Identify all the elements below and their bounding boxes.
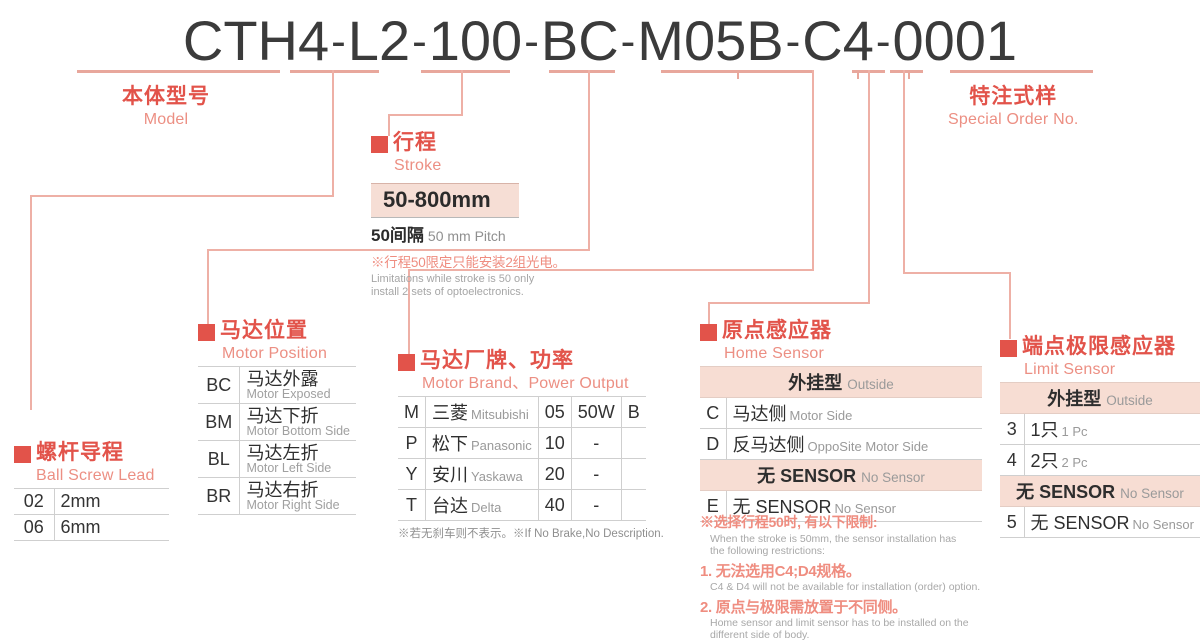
ball-screw-lead-code: 06 [14,515,54,541]
section-limit-sensor-label-en: Limit Sensor [1024,360,1200,379]
motor-brake-code: B [621,397,646,428]
restriction-item-2-en-line2: different side of body. [710,629,1000,641]
section-limit-sensor-header: 端点极限感应器 [1000,334,1200,360]
motor-power-code: 40 [538,490,571,521]
motor-position-value-en: Motor Bottom Side [246,425,350,438]
table-row: BR 马达右折 Motor Right Side [198,478,356,515]
code-underline-4 [549,70,615,73]
limit-sensor-value-cn: 2只 [1031,451,1059,471]
motor-position-code: BR [198,478,240,515]
motor-position-value-en: Motor Left Side [246,462,350,475]
motor-brand-name-cn: 三菱 [432,403,468,423]
limit-sensor-group-header-cell: 外挂型Outside [1000,383,1200,414]
connector-line-motorpos-down1 [588,70,590,250]
limit-sensor-value-en: 1 Pc [1059,424,1088,439]
table-row: BM 马达下折 Motor Bottom Side [198,404,356,441]
connector-line-limitsensor-horizontal [903,272,1011,274]
stroke-note-en-line2: install 2 sets of optoelectronics. [371,286,566,299]
restriction-item-2-cn: 2. 原点与极限需放置于不同侧。 [700,596,1000,617]
limit-sensor-group2-cn: 无 SENSOR [1016,482,1115,502]
motor-position-value: 马达右折 Motor Right Side [240,478,356,515]
limit-sensor-value: 2只2 Pc [1024,445,1200,476]
motor-power-code: 20 [538,459,571,490]
stroke-pitch: 50间隔50 mm Pitch [371,221,566,246]
section-special-order-label-cn: 特注式样 [948,84,1079,110]
home-sensor-table: 外挂型Outside C 马达侧Motor Side D 反马达侧OppoSit… [700,366,982,522]
motor-brand-code: Y [398,459,426,490]
table-row: BC 马达外露 Motor Exposed [198,367,356,404]
section-stroke-label-cn: 行程 [393,130,441,156]
motor-position-code: BM [198,404,240,441]
stroke-note-cn: ※行程50限定只能安装2组光电。 [371,251,566,271]
home-sensor-group-header-cell: 外挂型Outside [700,367,982,398]
section-ball-screw-lead-header: 螺杆导程 [14,440,169,466]
ball-screw-lead-value: 6mm [54,515,169,541]
limit-sensor-code: 5 [1000,507,1024,538]
limit-sensor-group-header-outside: 外挂型Outside [1000,383,1200,414]
home-sensor-group1-en: Outside [842,377,894,392]
section-home-sensor-label-cn: 原点感应器 [722,318,832,344]
motor-position-value: 马达外露 Motor Exposed [240,367,356,404]
table-row: 4 2只2 Pc [1000,445,1200,476]
table-row: 3 1只1 Pc [1000,414,1200,445]
section-home-sensor: 原点感应器 Home Sensor 外挂型Outside C 马达侧Motor … [700,318,982,522]
section-special-order: 特注式样 Special Order No. [948,84,1079,129]
motor-brand-table: M 三菱Mitsubishi 05 50W B P 松下Panasonic 10… [398,396,646,521]
motor-power-value: 50W [571,397,621,428]
section-stroke-label-en: Stroke [394,156,441,175]
motor-position-value-en: Motor Exposed [246,388,350,401]
motor-power-value: - [571,459,621,490]
restriction-title-en: When the stroke is 50mm, the sensor inst… [710,533,1000,557]
section-home-sensor-header: 原点感应器 [700,318,982,344]
home-sensor-restrictions: ※选择行程50时, 有以下限制: When the stroke is 50mm… [700,512,1000,641]
limit-sensor-value-cn: 无 SENSOR [1031,513,1130,533]
code-segment-2: L2 [348,9,410,72]
ball-screw-lead-code: 02 [14,489,54,515]
code-segment-4: BC [541,9,619,72]
motor-brand-name-cn: 安川 [432,465,468,485]
code-segment-1: CTH4 [183,9,329,72]
motor-brand-name: 三菱Mitsubishi [426,397,539,428]
code-separator-2: - [410,17,429,66]
motor-brand-name: 安川Yaskawa [426,459,539,490]
motor-position-value-cn: 马达下折 [246,406,350,426]
code-segment-6: C4 [802,9,874,72]
home-sensor-value-en: OppoSite Motor Side [805,439,929,454]
section-model: 本体型号 Model [122,84,210,129]
ball-screw-lead-table: 02 2mm 06 6mm [14,488,169,541]
home-sensor-group-header-outside: 外挂型Outside [700,367,982,398]
code-underline-2 [290,70,379,73]
motor-brand-name-en: Delta [468,500,501,515]
stroke-range-value: 50-800mm [371,183,519,218]
motor-brand-name-cn: 台达 [432,496,468,516]
limit-sensor-table: 外挂型Outside 3 1只1 Pc 4 2只2 Pc 无 SENSORNo … [1000,382,1200,538]
section-model-label-en: Model [122,110,210,129]
motor-brand-name: 松下Panasonic [426,428,539,459]
home-sensor-group2-cn: 无 SENSOR [757,466,856,486]
restriction-item-2-en-line1: Home sensor and limit sensor has to be i… [710,617,1000,629]
home-sensor-value-en: Motor Side [787,408,853,423]
motor-brand-code: T [398,490,426,521]
limit-sensor-group-header-cell: 无 SENSORNo Sensor [1000,476,1200,507]
connector-line-motorpos-down2 [207,249,209,327]
section-motor-position: 马达位置 Motor Position BC 马达外露 Motor Expose… [198,318,356,515]
home-sensor-group1-cn: 外挂型 [788,373,842,393]
motor-power-value: - [571,428,621,459]
section-limit-sensor: 端点极限感应器 Limit Sensor 外挂型Outside 3 1只1 Pc… [1000,334,1200,538]
stroke-pitch-cn: 50间隔 [371,226,424,245]
home-sensor-group-header-cell: 无 SENSORNo Sensor [700,460,982,491]
motor-brake-code [621,428,646,459]
section-motor-brand-header: 马达厂牌、功率 [398,348,664,374]
motor-position-code: BC [198,367,240,404]
section-limit-sensor-label-cn: 端点极限感应器 [1022,334,1176,360]
code-underline-tick-5 [737,70,739,79]
section-special-order-label-en: Special Order No. [948,110,1079,129]
motor-position-value-cn: 马达左折 [246,443,350,463]
section-ball-screw-lead: 螺杆导程 Ball Screw Lead 02 2mm 06 6mm [14,440,169,541]
limit-sensor-code: 4 [1000,445,1024,476]
home-sensor-value: 反马达侧OppoSite Motor Side [726,429,982,460]
section-marker-square [398,354,415,371]
table-row: BL 马达左折 Motor Left Side [198,441,356,478]
code-separator-3: - [522,17,541,66]
home-sensor-group2-en: No Sensor [856,470,925,485]
connector-line-homesensor-horizontal [708,302,870,304]
code-separator-6: - [874,17,893,66]
motor-brake-code [621,459,646,490]
motor-power-value: - [571,490,621,521]
code-segment-5: M05B [637,9,783,72]
home-sensor-group-header-nosensor: 无 SENSORNo Sensor [700,460,982,491]
section-ball-screw-lead-label-cn: 螺杆导程 [36,440,124,466]
home-sensor-value-cn: 反马达侧 [733,435,805,455]
code-underline-1 [77,70,280,73]
connector-line-stroke-horizontal [388,114,463,116]
motor-brand-code: M [398,397,426,428]
section-motor-position-header: 马达位置 [198,318,356,344]
stroke-pitch-en: 50 mm Pitch [424,228,506,244]
limit-sensor-value: 1只1 Pc [1024,414,1200,445]
connector-line-ballscrew-vertical [30,195,32,410]
motor-position-value: 马达下折 Motor Bottom Side [240,404,356,441]
restriction-item-1-en: C4 & D4 will not be available for instal… [710,581,1000,593]
stroke-note-en-line1: Limitations while stroke is 50 only [371,273,566,286]
limit-sensor-value-en: 2 Pc [1059,455,1088,470]
motor-brand-name-en: Mitsubishi [468,407,529,422]
section-home-sensor-label-en: Home Sensor [724,344,982,363]
motor-brand-name: 台达Delta [426,490,539,521]
limit-sensor-value-en: No Sensor [1130,517,1194,532]
section-marker-square [14,446,31,463]
code-underline-3 [421,70,510,73]
connector-line-model-horizontal [30,195,334,197]
motor-brake-code [621,490,646,521]
home-sensor-value: 马达侧Motor Side [726,398,982,429]
table-row: 5 无 SENSORNo Sensor [1000,507,1200,538]
connector-line-limitsensor-down1 [903,70,905,273]
table-row: P 松下Panasonic 10 - [398,428,646,459]
limit-sensor-group2-en: No Sensor [1115,486,1184,501]
motor-brand-footnote: ※若无刹车则不表示。※If No Brake,No Description. [398,525,664,541]
ball-screw-lead-value: 2mm [54,489,169,515]
motor-position-table: BC 马达外露 Motor Exposed BM 马达下折 Motor Bott… [198,366,356,515]
connector-line-model-vertical [332,70,334,196]
code-separator-5: - [784,17,803,66]
product-code-diagram: CTH4-L2-100-BC-M05B-C4-0001 本体型号 Model 特… [0,0,1200,601]
code-underline-tick-6b [908,70,910,79]
motor-power-code: 05 [538,397,571,428]
table-row: 02 2mm [14,489,169,515]
section-motor-position-label-en: Motor Position [222,344,356,363]
code-segment-7: 0001 [893,9,1018,72]
motor-position-value-cn: 马达外露 [246,369,350,389]
section-motor-position-label-cn: 马达位置 [220,318,308,344]
motor-position-code: BL [198,441,240,478]
section-motor-brand-label-en: Motor Brand、Power Output [422,374,664,393]
code-underline-7 [950,70,1093,73]
limit-sensor-value: 无 SENSORNo Sensor [1024,507,1200,538]
section-marker-square [1000,340,1017,357]
section-marker-square [371,136,388,153]
stroke-note-en: Limitations while stroke is 50 only inst… [371,273,566,299]
table-row: Y 安川Yaskawa 20 - [398,459,646,490]
section-marker-square [700,324,717,341]
motor-position-value-cn: 马达右折 [246,480,350,500]
section-motor-brand-label-cn: 马达厂牌、功率 [420,348,574,374]
code-segment-3: 100 [429,9,522,72]
restriction-item-1-cn: 1. 无法选用C4;D4规格。 [700,560,1000,581]
connector-line-limitsensor-down2 [1009,272,1011,339]
section-marker-square [198,324,215,341]
limit-sensor-group1-en: Outside [1101,393,1153,408]
home-sensor-code: C [700,398,726,429]
restriction-item-2-en: Home sensor and limit sensor has to be i… [710,617,1000,641]
home-sensor-value-cn: 马达侧 [733,404,787,424]
table-row: T 台达Delta 40 - [398,490,646,521]
connector-line-motorbrand-down1 [812,70,814,270]
restriction-title-cn: ※选择行程50时, 有以下限制: [700,512,1000,532]
motor-power-code: 10 [538,428,571,459]
table-row: D 反马达侧OppoSite Motor Side [700,429,982,460]
code-underline-tick-6a [857,70,859,79]
table-row: 06 6mm [14,515,169,541]
motor-position-value-en: Motor Right Side [246,499,350,512]
table-row: C 马达侧Motor Side [700,398,982,429]
motor-brand-name-en: Yaskawa [468,469,523,484]
code-underline-6b [890,70,923,73]
motor-brand-name-en: Panasonic [468,438,532,453]
section-stroke-header: 行程 Stroke [371,130,566,175]
section-motor-brand: 马达厂牌、功率 Motor Brand、Power Output M 三菱Mit… [398,348,664,541]
table-row: M 三菱Mitsubishi 05 50W B [398,397,646,428]
code-separator-4: - [619,17,638,66]
limit-sensor-code: 3 [1000,414,1024,445]
section-model-label-cn: 本体型号 [122,84,210,110]
motor-brand-name-cn: 松下 [432,434,468,454]
limit-sensor-group-header-nosensor: 无 SENSORNo Sensor [1000,476,1200,507]
section-stroke: 行程 Stroke 50-800mm 50间隔50 mm Pitch ※行程50… [371,130,566,299]
motor-position-value: 马达左折 Motor Left Side [240,441,356,478]
home-sensor-code: D [700,429,726,460]
limit-sensor-group1-cn: 外挂型 [1047,389,1101,409]
code-separator-1: - [329,17,348,66]
restriction-title-en-line1: When the stroke is 50mm, the sensor inst… [710,533,1000,545]
limit-sensor-value-cn: 1只 [1031,420,1059,440]
section-ball-screw-lead-label-en: Ball Screw Lead [36,466,169,485]
restriction-title-en-line2: the following restrictions: [710,545,1000,557]
motor-brand-code: P [398,428,426,459]
model-code: CTH4-L2-100-BC-M05B-C4-0001 [0,8,1200,73]
connector-line-homesensor-down1 [868,70,870,303]
connector-line-stroke-down1 [461,70,463,115]
